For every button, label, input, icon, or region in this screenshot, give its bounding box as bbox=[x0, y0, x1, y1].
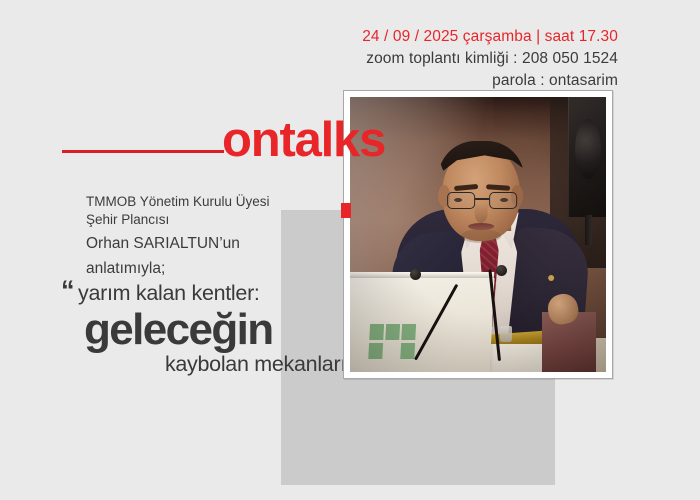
photo-loudspeaker-stand bbox=[585, 215, 592, 245]
quote-line-3-text: kaybolan mekanları bbox=[165, 352, 346, 376]
photo-lens-bridge bbox=[475, 198, 489, 200]
quote-line-3: kaybolan mekanları ” bbox=[60, 352, 360, 377]
photo-microphone-head-right bbox=[496, 265, 507, 276]
speaker-photo bbox=[350, 97, 606, 372]
red-square-accent bbox=[341, 203, 351, 218]
quote-line-1-text: yarım kalan kentler: bbox=[78, 281, 260, 305]
credit-speaker-name: Orhan SARIALTUN’un bbox=[86, 234, 270, 255]
quote-line-2: geleceğin bbox=[60, 307, 360, 354]
photo-lens-right bbox=[489, 192, 517, 209]
speaker-credit: TMMOB Yönetim Kurulu Üyesi Şehir Plancıs… bbox=[86, 193, 270, 280]
credit-suffix: anlatımıyla; bbox=[86, 259, 270, 280]
logo-underline-rule bbox=[62, 150, 224, 153]
photo-microphone-head-left bbox=[410, 269, 421, 280]
photo-lectern bbox=[350, 278, 495, 372]
quote-line-1: “ yarım kalan kentler: bbox=[60, 281, 360, 306]
credit-role-line-2: Şehir Plancısı bbox=[86, 211, 270, 229]
open-quote-mark: “ bbox=[61, 275, 74, 306]
zoom-meeting-id: zoom toplantı kimliği : 208 050 1524 bbox=[362, 48, 618, 70]
photo-person-head bbox=[442, 145, 520, 241]
photo-lapel-pin bbox=[548, 275, 554, 281]
photo-nose bbox=[475, 203, 488, 223]
photo-water-glass bbox=[500, 326, 512, 342]
photo-brow-left bbox=[454, 184, 478, 191]
photo-chin bbox=[461, 229, 501, 243]
photo-lens-left bbox=[447, 192, 475, 209]
tmmob-logo-icon bbox=[368, 324, 416, 360]
event-meta: 24 / 09 / 2025 çarşamba | saat 17.30 zoo… bbox=[362, 26, 618, 92]
event-date: 24 / 09 / 2025 çarşamba | saat 17.30 bbox=[362, 26, 618, 48]
credit-role-line-1: TMMOB Yönetim Kurulu Üyesi bbox=[86, 193, 270, 211]
photo-loudspeaker bbox=[568, 97, 606, 217]
zoom-password: parola : ontasarim bbox=[362, 70, 618, 92]
photo-brow-right bbox=[486, 184, 510, 191]
talk-title-quote: “ yarım kalan kentler: geleceğin kaybola… bbox=[60, 281, 360, 377]
